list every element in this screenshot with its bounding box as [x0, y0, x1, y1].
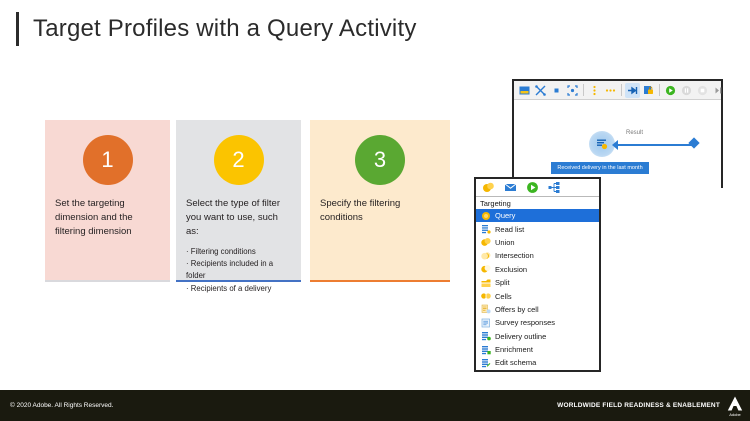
- workflow-toolbar: [514, 81, 721, 100]
- menu-item-label: Enrichment: [495, 345, 533, 354]
- adobe-a-icon: [726, 395, 744, 412]
- flow-control-tab[interactable]: [546, 181, 562, 195]
- menu-item-union[interactable]: Union: [476, 236, 599, 249]
- menu-item-label: Read list: [495, 225, 524, 234]
- step-badge-2: 2: [214, 135, 264, 185]
- menu-item-exclusion[interactable]: Exclusion: [476, 263, 599, 276]
- step-badge-3: 3: [355, 135, 405, 185]
- delivery-outline-icon: [480, 331, 491, 342]
- list-item: Filtering conditions: [186, 246, 291, 258]
- edit-schema-icon: [480, 357, 491, 368]
- menu-item-label: Exclusion: [495, 265, 527, 274]
- query-icon: [480, 210, 491, 221]
- exclusion-icon: [480, 264, 491, 275]
- slide-header: Target Profiles with a Query Activity: [16, 12, 417, 46]
- step-card-3: 3 Specify the filtering conditions: [310, 120, 450, 282]
- toolbar-separator: [583, 84, 584, 96]
- survey-responses-icon: [480, 317, 491, 328]
- menu-item-split[interactable]: Split: [476, 276, 599, 289]
- menu-item-survey-responses[interactable]: Survey responses: [476, 316, 599, 329]
- menu-item-label: Query: [495, 211, 515, 220]
- display-icon[interactable]: [517, 83, 532, 98]
- pause-icon[interactable]: [679, 83, 694, 98]
- intersection-icon: [480, 250, 491, 261]
- channels-tab[interactable]: [502, 181, 518, 195]
- activity-menu-list: Query Read list Union Intersection Exclu: [476, 209, 599, 370]
- list-item: Recipients included in a folder: [186, 258, 291, 282]
- footer-copyright: © 2020 Adobe. All Rights Reserved.: [10, 402, 113, 409]
- step-card-2-bullets: Filtering conditions Recipients included…: [186, 246, 291, 294]
- offers-by-cell-icon: [480, 304, 491, 315]
- execution-tab[interactable]: [524, 181, 540, 195]
- menu-item-label: Intersection: [495, 251, 534, 260]
- targeting-tab[interactable]: [480, 181, 496, 195]
- title-accent-bar: [16, 12, 19, 46]
- menu-item-read-list[interactable]: Read list: [476, 222, 599, 235]
- panel-group-header: Targeting: [476, 197, 599, 209]
- menu-item-label: Delivery outline: [495, 332, 546, 341]
- step-card-1: 1 Set the targeting dimension and the fi…: [45, 120, 170, 282]
- menu-item-query[interactable]: Query: [476, 209, 599, 222]
- more-horizontal-icon[interactable]: [603, 83, 618, 98]
- lock-icon[interactable]: [641, 83, 656, 98]
- footer-bar: © 2020 Adobe. All Rights Reserved. WORLD…: [0, 390, 750, 421]
- menu-item-offers-by-cell[interactable]: Offers by cell: [476, 303, 599, 316]
- stop-icon[interactable]: [695, 83, 710, 98]
- menu-item-enrichment[interactable]: Enrichment: [476, 343, 599, 356]
- footer-tagline: WORLDWIDE FIELD READINESS & ENABLEMENT: [557, 402, 720, 409]
- transition-link: [614, 144, 694, 146]
- transition-label: Result: [626, 130, 643, 136]
- cells-icon: [480, 291, 491, 302]
- menu-item-delivery-outline[interactable]: Delivery outline: [476, 330, 599, 343]
- arrange-icon[interactable]: [533, 83, 548, 98]
- menu-item-label: Cells: [495, 292, 512, 301]
- menu-item-edit-schema[interactable]: Edit schema: [476, 356, 599, 369]
- split-icon: [480, 277, 491, 288]
- union-icon: [480, 237, 491, 248]
- menu-item-label: Offers by cell: [495, 305, 539, 314]
- menu-item-label: Edit schema: [495, 358, 536, 367]
- workflow-canvas[interactable]: Result Received delivery in the last mon…: [514, 100, 721, 188]
- menu-item-label: Survey responses: [495, 318, 555, 327]
- step-card-1-text: Set the targeting dimension and the filt…: [55, 197, 160, 238]
- step-card-3-text: Specify the filtering conditions: [320, 197, 440, 225]
- footer-right-group: WORLDWIDE FIELD READINESS & ENABLEMENT A…: [557, 395, 744, 417]
- more-vertical-icon[interactable]: [587, 83, 602, 98]
- toolbar-separator: [659, 84, 660, 96]
- adobe-logo-text: Adobe: [729, 412, 741, 417]
- activity-panel-tabs: [476, 179, 599, 197]
- start-icon[interactable]: [663, 83, 678, 98]
- step-icon[interactable]: [711, 83, 726, 98]
- step-card-2: 2 Select the type of filter you want to …: [176, 120, 301, 282]
- enrichment-icon: [480, 344, 491, 355]
- list-item: Recipients of a delivery: [186, 283, 291, 295]
- transition-endpoint: [688, 137, 699, 148]
- node-caption: Received delivery in the last month: [551, 162, 649, 174]
- center-dot-icon[interactable]: [549, 83, 564, 98]
- menu-item-label: Union: [495, 238, 515, 247]
- adobe-logo: Adobe: [726, 395, 744, 417]
- menu-item-cells[interactable]: Cells: [476, 289, 599, 302]
- step-card-2-text: Select the type of filter you want to us…: [186, 197, 291, 238]
- workflow-window: Result Received delivery in the last mon…: [512, 79, 723, 188]
- read-list-icon: [480, 224, 491, 235]
- toolbar-separator: [621, 84, 622, 96]
- activity-panel: Targeting Query Read list Union Intersec…: [474, 177, 601, 372]
- menu-item-intersection[interactable]: Intersection: [476, 249, 599, 262]
- menu-item-label: Split: [495, 278, 510, 287]
- page-title: Target Profiles with a Query Activity: [33, 15, 417, 43]
- step-badge-1: 1: [83, 135, 133, 185]
- fit-to-screen-icon[interactable]: [565, 83, 580, 98]
- forward-arrow-icon[interactable]: [625, 83, 640, 98]
